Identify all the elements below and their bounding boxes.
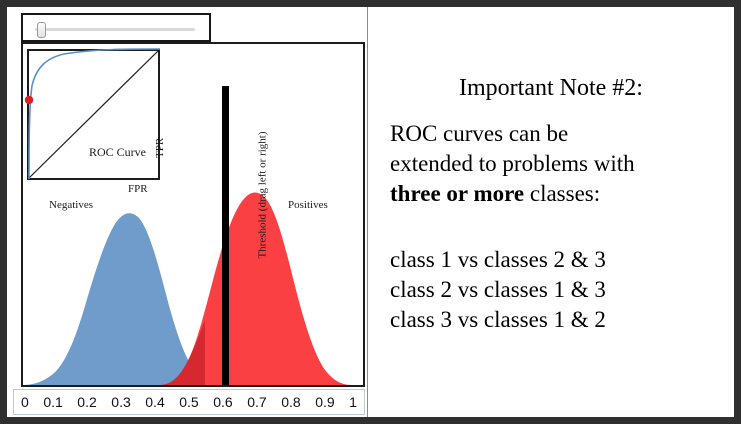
positives-label: Positives [288, 199, 328, 211]
negatives-label: Negatives [49, 199, 93, 211]
roc-inset-svg [24, 46, 170, 198]
application-frame: Negatives Positives Threshold (drag left… [0, 0, 741, 424]
note-body-line2: extended to problems with [390, 149, 720, 179]
note-list-item: class 1 vs classes 2 & 3 [390, 245, 720, 275]
x-axis-tick-list: 0 0.1 0.2 0.3 0.4 0.5 0.6 0.7 0.8 0.9 1 [14, 390, 364, 414]
x-tick: 0.7 [247, 394, 266, 410]
distribution-plot-panel[interactable]: Negatives Positives Threshold (drag left… [21, 42, 365, 387]
roc-inset-ylabel: TPR [154, 138, 166, 158]
note-body-line3: three or more classes: [390, 179, 720, 209]
note-body-emphasis: three or more [390, 181, 524, 206]
note-body-line1: ROC curves can be [390, 119, 720, 149]
x-tick: 0.3 [111, 394, 130, 410]
x-tick: 0 [21, 394, 29, 410]
roc-inset-chart: ROC Curve FPR TPR [24, 46, 170, 198]
x-tick: 0.1 [43, 394, 62, 410]
slider-track[interactable] [35, 28, 195, 31]
note-class-list: class 1 vs classes 2 & 3 class 2 vs clas… [390, 245, 720, 335]
roc-inset-xlabel: FPR [128, 183, 148, 195]
note-body: ROC curves can be extended to problems w… [390, 119, 720, 209]
roc-demo-region: Negatives Positives Threshold (drag left… [7, 7, 367, 417]
application-canvas: Negatives Positives Threshold (drag left… [7, 7, 734, 417]
x-tick: 0.8 [281, 394, 300, 410]
threshold-slider-panel[interactable] [21, 13, 211, 42]
note-body-tail: classes: [524, 181, 600, 206]
x-tick: 0.5 [179, 394, 198, 410]
roc-inset-title: ROC Curve [89, 145, 146, 160]
slider-handle[interactable] [37, 22, 46, 38]
x-tick: 0.9 [315, 394, 334, 410]
x-axis-strip: 0 0.1 0.2 0.3 0.4 0.5 0.6 0.7 0.8 0.9 1 [13, 389, 365, 415]
x-tick: 0.2 [77, 394, 96, 410]
threshold-drag-bar[interactable] [222, 86, 229, 385]
note-panel: Important Note #2: ROC curves can be ext… [367, 7, 734, 417]
threshold-label: Threshold (drag left or right) [257, 131, 269, 258]
note-heading: Important Note #2: [368, 75, 734, 102]
note-list-item: class 3 vs classes 1 & 2 [390, 305, 720, 335]
roc-operating-point-marker [25, 96, 33, 104]
x-tick: 0.4 [145, 394, 164, 410]
x-tick: 0.6 [213, 394, 232, 410]
note-list-item: class 2 vs classes 1 & 3 [390, 275, 720, 305]
x-tick: 1 [349, 394, 357, 410]
positives-distribution-area [159, 193, 351, 386]
